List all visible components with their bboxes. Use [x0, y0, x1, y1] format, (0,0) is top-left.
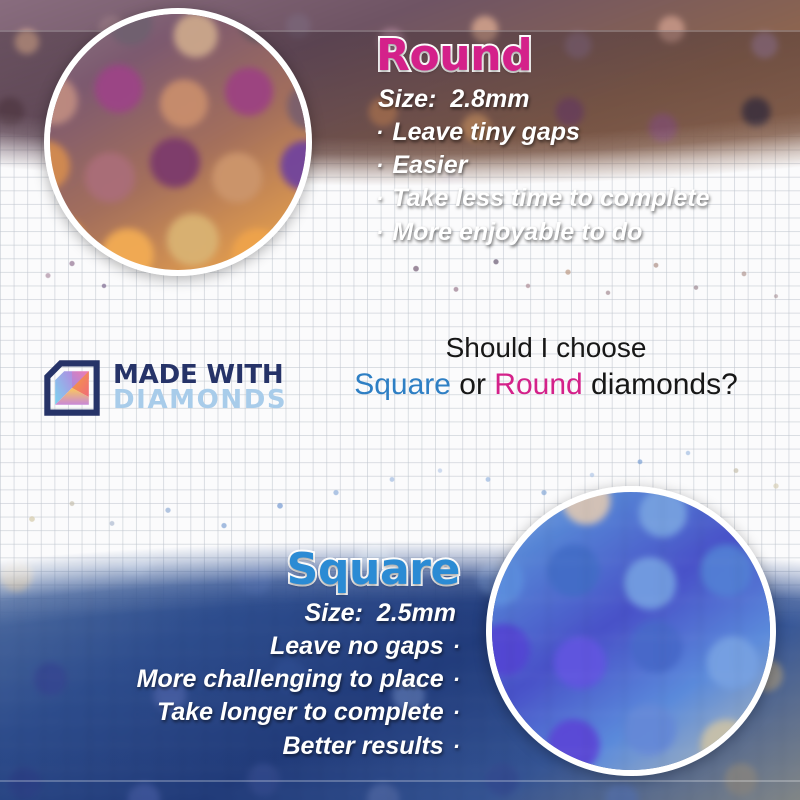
list-item: More challenging to place ·: [20, 663, 460, 696]
square-magnifier-image: [486, 486, 776, 776]
round-magnifier-image: [44, 8, 312, 276]
feature-text: More challenging to place: [137, 663, 444, 696]
brand-wordmark: MADE WITH DIAMONDS: [113, 364, 287, 413]
feature-text: Better results: [283, 730, 444, 763]
square-info-panel: Square Size: 2.5mm Leave no gaps · More …: [20, 548, 460, 763]
feature-text: Take less time to complete: [392, 182, 709, 215]
feature-text: Take longer to complete: [157, 696, 444, 729]
square-feature-list: Leave no gaps · More challenging to plac…: [20, 630, 460, 763]
round-magnifier-circle: [44, 8, 312, 276]
feature-text: Leave no gaps: [270, 630, 444, 663]
list-item: · More enjoyable to do: [376, 216, 796, 249]
brand-line-1: MADE WITH: [113, 364, 287, 388]
question-word-square: Square: [354, 368, 451, 401]
bullet-icon: ·: [376, 222, 383, 244]
infographic-canvas: Round Size: 2.8mm · Leave tiny gaps · Ea…: [0, 0, 800, 800]
feature-text: Leave tiny gaps: [392, 116, 580, 149]
bullet-icon: ·: [453, 702, 460, 724]
square-magnifier-circle: [486, 486, 776, 776]
list-item: Take longer to complete ·: [20, 696, 460, 729]
list-item: · Take less time to complete: [376, 182, 796, 215]
brand-line-2: DIAMONDS: [113, 389, 287, 413]
question-word-round: Round: [494, 368, 582, 401]
bullet-icon: ·: [453, 736, 460, 758]
question-word-or: or: [451, 368, 494, 401]
round-info-panel: Round Size: 2.8mm · Leave tiny gaps · Ea…: [376, 34, 796, 249]
question-block: Should I choose Square or Round diamonds…: [336, 332, 756, 402]
bullet-icon: ·: [376, 188, 383, 210]
list-item: · Leave tiny gaps: [376, 116, 796, 149]
bottom-band-seam: [0, 780, 800, 782]
list-item: Better results ·: [20, 730, 460, 763]
question-line-2: Square or Round diamonds?: [336, 368, 756, 402]
bullet-icon: ·: [376, 155, 383, 177]
list-item: Leave no gaps ·: [20, 630, 460, 663]
feature-text: Easier: [392, 149, 467, 182]
square-size-line: Size: 2.5mm: [20, 599, 456, 628]
square-title: Square: [20, 548, 460, 593]
diamond-gem-logo-icon: [44, 360, 100, 416]
bullet-icon: ·: [376, 122, 383, 144]
round-title: Round: [376, 34, 796, 79]
question-word-tail: diamonds?: [583, 368, 738, 401]
list-item: · Easier: [376, 149, 796, 182]
question-line-1: Should I choose: [336, 332, 756, 364]
brand-logo[interactable]: MADE WITH DIAMONDS: [44, 360, 287, 416]
round-feature-list: · Leave tiny gaps · Easier · Take less t…: [376, 116, 796, 249]
round-size-line: Size: 2.8mm: [378, 85, 796, 114]
bullet-icon: ·: [453, 669, 460, 691]
bullet-icon: ·: [453, 636, 460, 658]
center-band: MADE WITH DIAMONDS Should I choose Squar…: [0, 318, 800, 436]
feature-text: More enjoyable to do: [392, 216, 642, 249]
